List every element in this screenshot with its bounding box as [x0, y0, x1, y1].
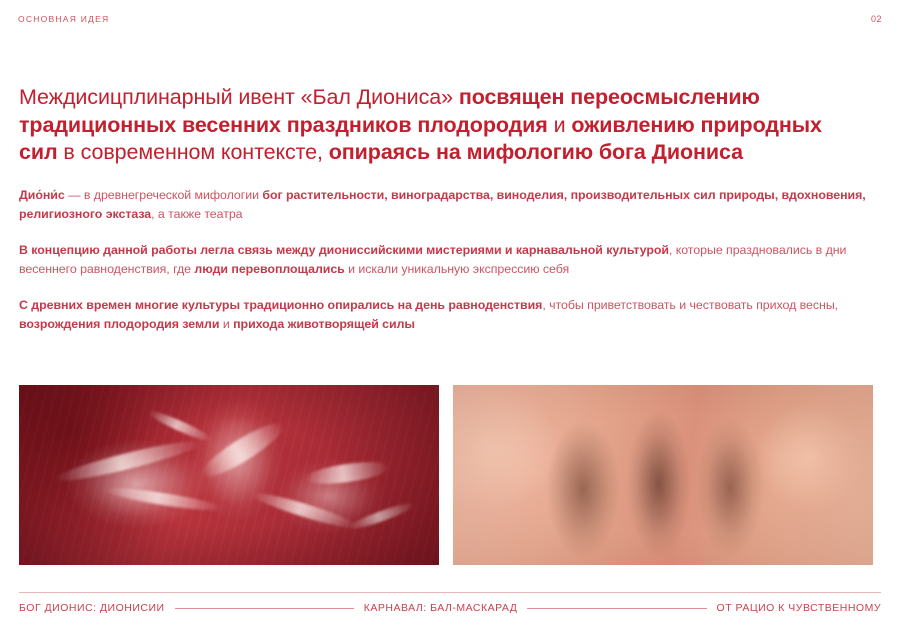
text-run: — в древнегреческой мифологии [65, 188, 263, 202]
headline-line2-bold-b: оживлению природных [571, 113, 821, 137]
paragraph-concept: В концепцию данной работы легла связь ме… [19, 241, 885, 278]
photo-dionysian-figures [19, 385, 439, 565]
page-number: 02 [871, 14, 882, 24]
text-run: , чтобы приветствовать и чествовать прих… [542, 298, 838, 312]
text-run: и [219, 317, 233, 331]
text-run: , а также театра [151, 207, 242, 221]
footer-item-dionysus: БОГ ДИОНИС: ДИОНИСИИ [19, 602, 165, 614]
headline-line1-regular: Междисицплинарный ивент «Бал Диониса» [19, 85, 459, 109]
body-copy: Дио́ни́с — в древнегреческой мифологии б… [19, 186, 885, 333]
headline-line3-regular: в современном контексте, [58, 140, 329, 164]
headline-line3-bold-b: опираясь на мифологию бога Диониса [329, 140, 743, 164]
headline-line2-bold-a: традиционных весенних праздников плодоро… [19, 113, 548, 137]
footer-separator [527, 608, 706, 609]
slide-footer: БОГ ДИОНИС: ДИОНИСИИ КАРНАВАЛ: БАЛ-МАСКА… [19, 602, 881, 614]
footer-item-carnival: КАРНАВАЛ: БАЛ-МАСКАРАД [364, 602, 518, 614]
slide-header: ОСНОВНАЯ ИДЕЯ 02 [18, 14, 882, 24]
text-emphasis: люди перевоплощались [194, 262, 344, 276]
photo-vignette [453, 385, 873, 565]
footer-divider [19, 592, 881, 593]
footer-separator [175, 608, 354, 609]
headline-line3-bold-a: сил [19, 140, 58, 164]
headline-line1-bold: посвящен переосмыслению [459, 85, 760, 109]
paragraph-ancient-cultures: С древних времен многие культуры традици… [19, 296, 885, 333]
paragraph-dionis-definition: Дио́ни́с — в древнегреческой мифологии б… [19, 186, 885, 223]
text-emphasis: Дио́ни́с [19, 188, 65, 202]
section-eyebrow: ОСНОВНАЯ ИДЕЯ [18, 14, 109, 24]
text-emphasis: С древних времен многие культуры традици… [19, 298, 542, 312]
footer-item-sensuality: ОТ РАЦИО К ЧУВСТВЕННОМУ [717, 602, 881, 614]
headline-line2-regular: и [548, 113, 572, 137]
text-emphasis: прихода животворящей силы [233, 317, 415, 331]
text-emphasis: возрождения плодородия земли [19, 317, 219, 331]
page-title: Междисицплинарный ивент «Бал Диониса» по… [19, 84, 881, 167]
image-gallery [19, 385, 873, 565]
slide: ОСНОВНАЯ ИДЕЯ 02 Междисицплинарный ивент… [0, 0, 900, 636]
photo-vignette [19, 385, 439, 565]
photo-blurred-dancers [453, 385, 873, 565]
text-emphasis: В концепцию данной работы легла связь ме… [19, 243, 669, 257]
text-run: и искали уникальную экспрессию себя [345, 262, 569, 276]
